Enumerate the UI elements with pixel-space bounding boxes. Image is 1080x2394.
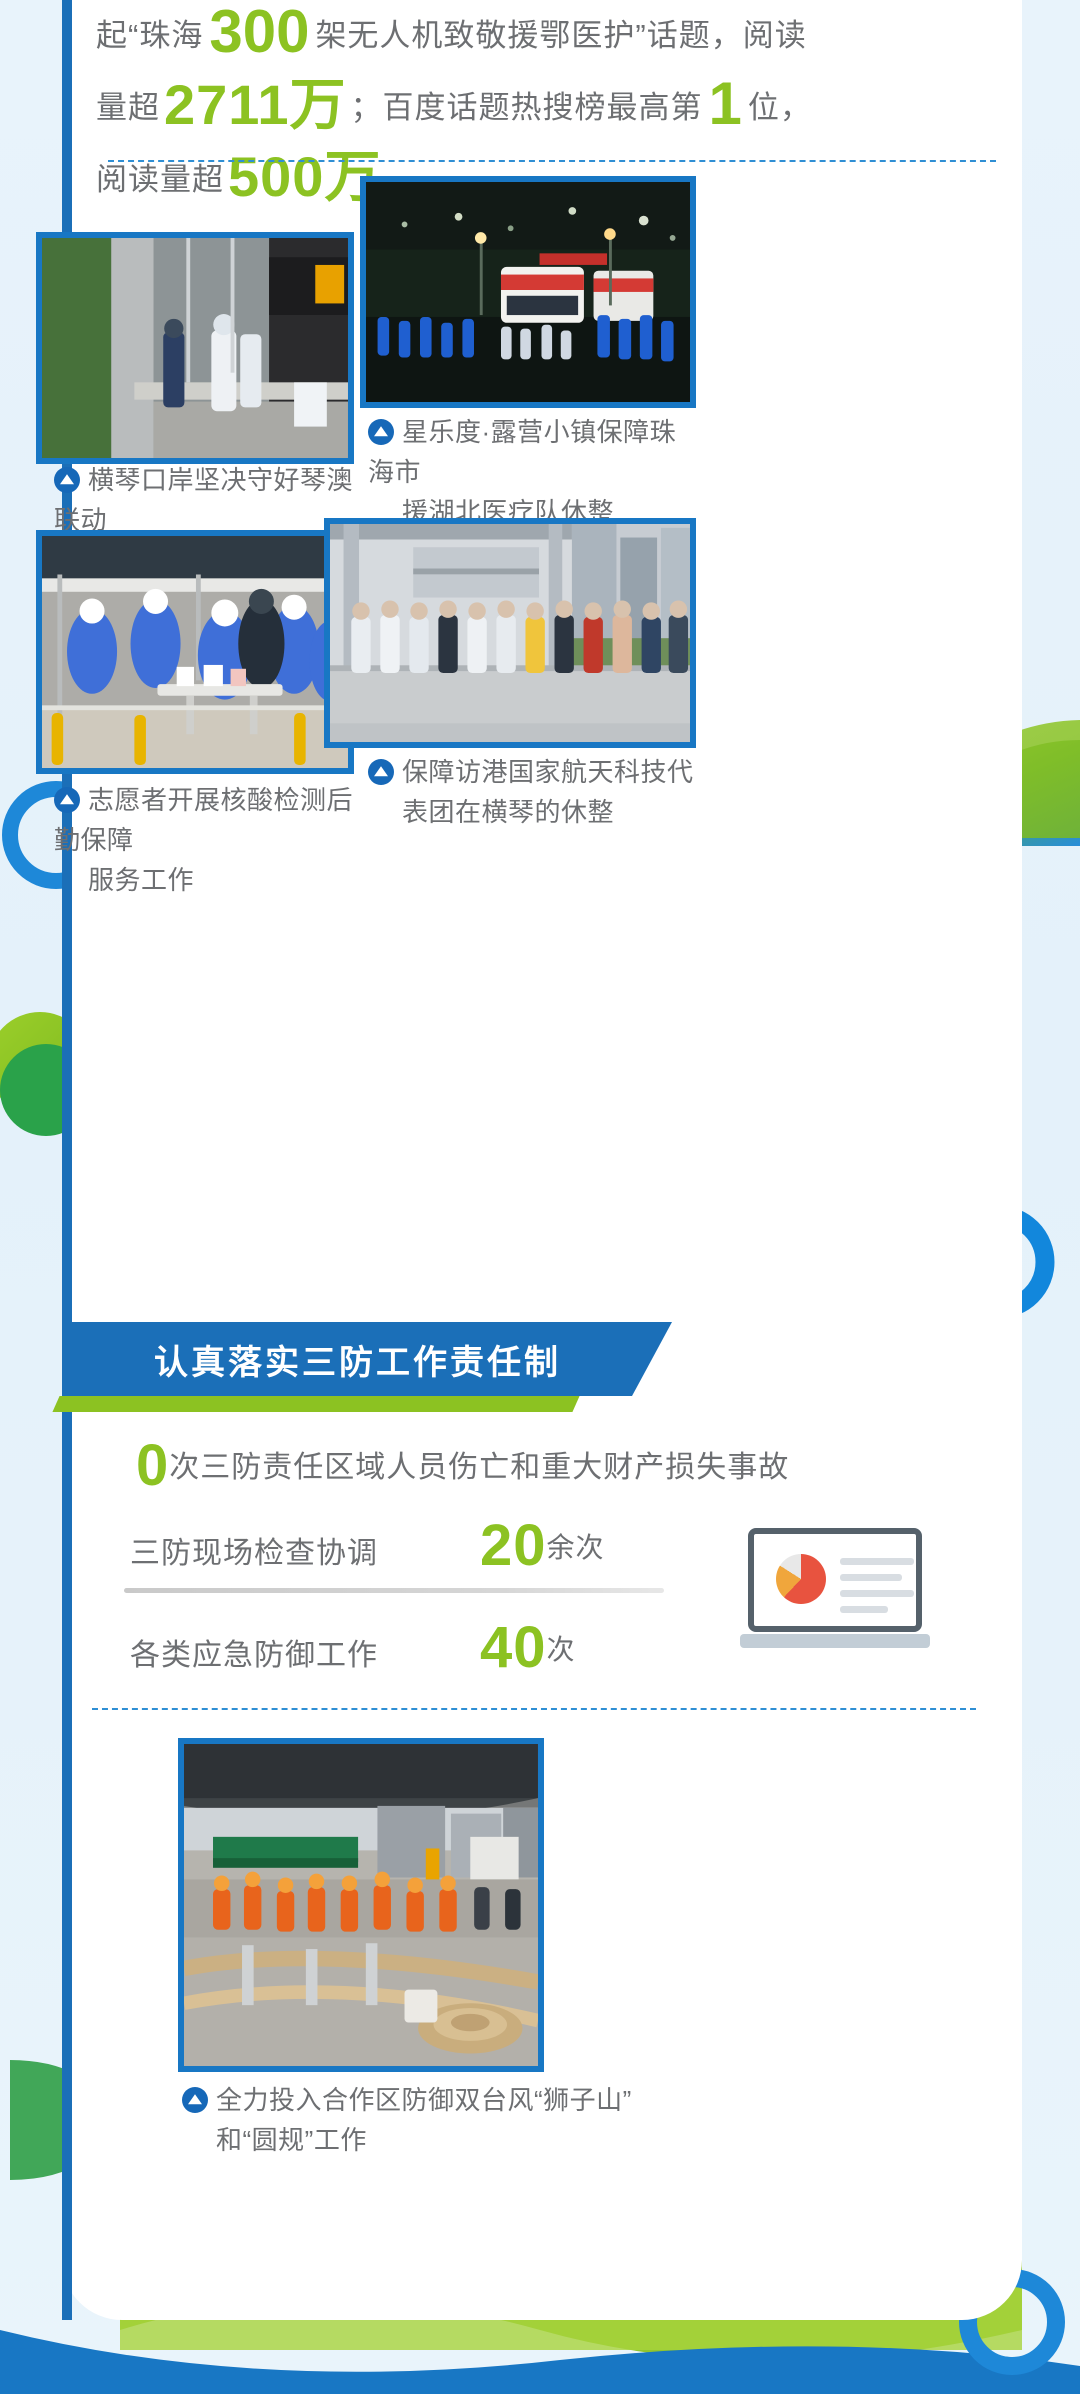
caption-camp-town-night: 星乐度·露营小镇保障珠海市 援湖北医疗队休整	[368, 412, 698, 532]
divider-dashed-stats	[92, 1708, 976, 1710]
stat-2711wan: 2711万	[160, 73, 351, 136]
stat-1-label-text: 各类应急防御工作	[130, 1639, 378, 1672]
caption-marker-icon	[182, 2087, 208, 2113]
stat-row-0-value: 20余次	[480, 1512, 605, 1579]
laptop-base	[740, 1634, 930, 1648]
para-seg-5: 位，	[748, 90, 812, 125]
chart-bar-line-1	[840, 1558, 914, 1565]
caption-volunteer-nucleic-test: 志愿者开展核酸检测后勤保障 服务工作	[54, 780, 374, 900]
para-seg-3: 量超	[96, 90, 160, 125]
para-seg-6: 阅读量超	[96, 162, 224, 197]
caption-volunteer-line1: 志愿者开展核酸检测后勤保障	[54, 785, 353, 855]
stat-divider-0	[124, 1588, 664, 1593]
chart-bar-line-4	[840, 1606, 888, 1613]
stat-1-unit: 次	[547, 1634, 576, 1665]
para-seg-2: 架无人机致敬援鄂医护”话题，阅读	[315, 18, 806, 53]
stat-row-0-label: 三防现场检查协调	[130, 1528, 378, 1572]
photo-aerospace-delegation	[324, 518, 696, 748]
photo-volunteer-nucleic-test	[36, 530, 354, 774]
stat-row-1-value: 40次	[480, 1614, 576, 1681]
caption-aerospace-line1: 保障访港国家航天科技代	[402, 757, 694, 787]
caption-marker-icon	[54, 467, 80, 493]
divider-dashed-top	[108, 160, 996, 162]
photo-camp-town-night-image	[366, 182, 690, 406]
infographic-page: 起“珠海300架无人机致敬援鄂医护”话题，阅读 量超2711万；百度话题热搜榜最…	[0, 0, 1080, 2394]
caption-typhoon-defense: 全力投入合作区防御双台风“狮子山” 和“圆规”工作	[182, 2080, 662, 2160]
stat-row-1-label: 各类应急防御工作	[130, 1630, 378, 1674]
caption-hengqin-port-line1: 横琴口岸坚决守好琴澳联动	[54, 465, 353, 535]
chart-bar-line-2	[840, 1574, 902, 1581]
stat-300: 300	[203, 0, 315, 65]
section-banner: 认真落实三防工作责任制	[72, 1322, 632, 1396]
para-seg-1: 起“珠海	[96, 18, 203, 53]
photo-aerospace-delegation-image	[330, 524, 690, 747]
caption-marker-icon	[54, 787, 80, 813]
stat-1: 1	[703, 70, 748, 137]
caption-camp-town-night-line1: 星乐度·露营小镇保障珠海市	[368, 417, 676, 487]
section-banner-title: 认真落实三防工作责任制	[154, 1335, 561, 1384]
banner-arrow-tail	[632, 1322, 672, 1396]
stat-headline: 0次三防责任区域人员伤亡和重大财产损失事故	[136, 1432, 876, 1499]
photo-hengqin-port	[36, 232, 354, 464]
photo-hengqin-port-image	[42, 238, 348, 461]
stat-0-label-text: 三防现场检查协调	[130, 1537, 378, 1570]
photo-camp-town-night	[360, 176, 696, 408]
pie-chart-glyph	[776, 1554, 826, 1604]
caption-typhoon-line2: 和“圆规”工作	[182, 2120, 662, 2160]
caption-aerospace-line2: 表团在横琴的休整	[368, 792, 698, 832]
stat-0-unit: 余次	[547, 1532, 605, 1563]
stat-0-value: 20	[480, 1513, 547, 1578]
photo-typhoon-defense-image	[184, 1744, 538, 2067]
stat-headline-label: 次三防责任区域人员伤亡和重大财产损失事故	[169, 1451, 789, 1484]
caption-marker-icon	[368, 419, 394, 445]
chart-bar-line-3	[840, 1590, 914, 1597]
laptop-screen	[748, 1528, 922, 1632]
photo-typhoon-defense	[178, 1738, 544, 2072]
stat-1-value: 40	[480, 1615, 547, 1680]
caption-marker-icon	[368, 759, 394, 785]
stat-headline-value: 0	[136, 1433, 169, 1498]
laptop-chart-icon	[740, 1528, 930, 1656]
caption-typhoon-line1: 全力投入合作区防御双台风“狮子山”	[216, 2085, 632, 2115]
photo-volunteer-nucleic-test-image	[42, 536, 348, 771]
banner-underline-accent	[52, 1396, 579, 1412]
caption-aerospace-delegation: 保障访港国家航天科技代 表团在横琴的休整	[368, 752, 698, 832]
caption-volunteer-line2: 服务工作	[54, 860, 374, 900]
para-seg-4: ；百度话题热搜榜最高第	[351, 90, 703, 125]
